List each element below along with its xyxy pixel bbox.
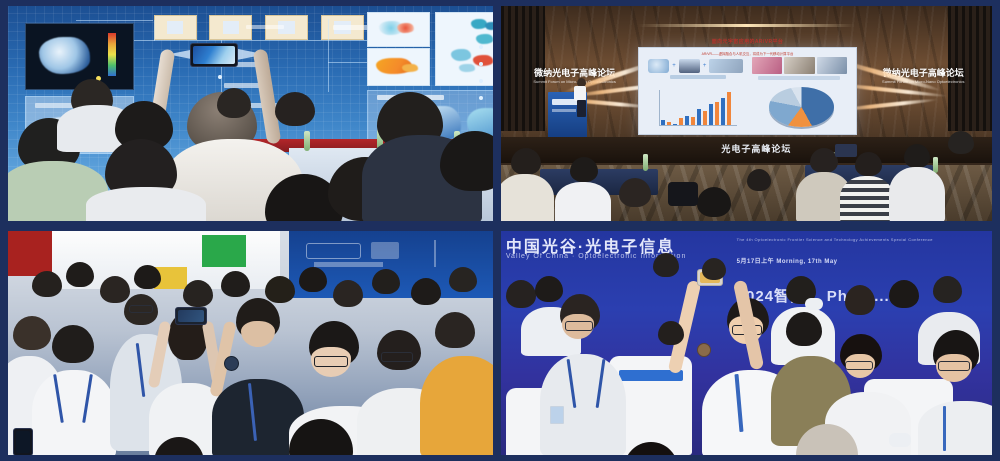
crowd-head (183, 280, 213, 307)
speaker-torso (574, 86, 586, 101)
crowd-head (435, 312, 475, 348)
stage-light-rail (638, 24, 854, 27)
audience-head (619, 178, 651, 207)
smartphone (175, 307, 207, 325)
science-plot-1 (367, 12, 430, 46)
attendee-head (535, 276, 563, 302)
slide-bar-chart (661, 91, 731, 125)
attendee-head (845, 285, 875, 315)
flow-connector-h1 (76, 20, 154, 21)
audience-head (855, 152, 882, 176)
slide-chart-caption (670, 75, 726, 79)
audience-head (511, 148, 541, 175)
attendee-head (786, 312, 822, 346)
slide-pie-chart (769, 87, 834, 127)
crowd-head (333, 280, 363, 307)
slide-image-strip (752, 57, 847, 73)
glasses-icon (314, 356, 348, 367)
glasses-icon (845, 361, 873, 370)
crowd-head-foreground (52, 325, 94, 363)
water-bottle (933, 157, 938, 173)
summit-forum-stage-photo: 微纳光电子高峰论坛 Summit Forum on Micro-Nano Opt… (501, 6, 992, 221)
collage-cell-top-right: 微纳光电子高峰论坛 Summit Forum on Micro-Nano Opt… (497, 0, 1000, 226)
slide-chart-yaxis (659, 90, 660, 126)
projection-screen: 面向元宇宙应用的AR/VR平台 AR/VR——虚拟融合与人机交互，将成为下一代移… (638, 47, 856, 135)
face-mask (889, 433, 911, 447)
flow-node-2 (218, 75, 222, 79)
slide-pie-caption (758, 76, 840, 80)
name-badge (550, 406, 564, 424)
crowd-head (265, 276, 295, 303)
flow-connector-v3 (328, 19, 329, 92)
crowd-head (449, 267, 477, 292)
red-banner (8, 231, 52, 276)
collage-cell-bottom-right: 中国光谷·光电子信息 Valley Of China · Optoelectro… (497, 226, 1000, 461)
laptop (835, 144, 857, 157)
attendee-body (540, 354, 626, 455)
audience-head (217, 88, 251, 118)
attendee-head (658, 321, 684, 345)
slide-title: 面向元宇宙应用的AR/VR平台 (639, 38, 855, 45)
glasses-icon (938, 361, 970, 371)
science-plot-3 (435, 12, 493, 86)
lanyard (943, 406, 946, 451)
glasses-icon (129, 305, 153, 313)
collage-cell-bottom-left (0, 226, 497, 461)
smartphone (13, 428, 33, 455)
crowd-head (13, 316, 51, 350)
attendee-body (918, 401, 992, 455)
slide-chart-axis (659, 125, 737, 126)
audience-body (889, 167, 945, 221)
audience-body (86, 187, 206, 221)
bracelet (697, 343, 711, 357)
audience-head (747, 169, 771, 191)
audience-head (904, 144, 930, 168)
crowd-head (32, 271, 62, 297)
audience-body-striped (840, 176, 894, 221)
stage-banner-left-subtitle: Summit Forum on Micro-Nano Optoelectroni… (521, 79, 629, 84)
flow-text-4 (246, 25, 285, 29)
attendee-head (889, 280, 919, 308)
crowd-head (372, 269, 400, 294)
glasses-icon (565, 321, 593, 331)
crowd-body-orange (420, 356, 493, 455)
green-shirt-attendee (202, 235, 246, 266)
thermal-image-panel (25, 23, 134, 90)
wristwatch (224, 356, 239, 371)
crowd-head (377, 330, 421, 370)
audience-head (275, 92, 315, 126)
flow-box-1 (154, 15, 197, 41)
led-dashboard-audience-photo (8, 6, 493, 221)
attendee-head (506, 280, 536, 308)
slide-subtitle: AR/VR——虚拟融合与人机交互，将成为下一代移动计算平台 (652, 51, 842, 56)
backpack (668, 182, 698, 206)
crowd-body (32, 370, 116, 455)
audience-body (555, 182, 611, 221)
crowd-head (221, 271, 250, 297)
audience-body (501, 174, 554, 221)
science-plot-2 (367, 48, 430, 87)
slide-icon-row: + + (648, 59, 743, 73)
attendee-head (702, 258, 726, 280)
water-bottle (643, 154, 648, 171)
audience-head (948, 131, 974, 154)
blue-backdrop-conference-photo: 中国光谷·光电子信息 Valley Of China · Optoelectro… (501, 231, 992, 455)
photo-collage: 微纳光电子高峰论坛 Summit Forum on Micro-Nano Opt… (0, 0, 1000, 461)
crowd-head (66, 262, 94, 287)
exhibition-crowd-photo (8, 231, 493, 455)
backdrop-conference-name: The 4th Optoelectronic Frontier Science … (737, 237, 933, 242)
collage-cell-top-left (0, 0, 497, 226)
glasses-icon (381, 352, 413, 362)
crowd-head (100, 276, 130, 303)
backdrop-date: 5月17日上午 Morning, 17th May (737, 256, 838, 265)
crowd-head (411, 278, 441, 305)
flow-connector-v1 (154, 20, 155, 42)
thermal-colorbar (108, 33, 115, 76)
audience-head (570, 157, 598, 182)
speaker-legs (577, 100, 586, 117)
flow-connector-h2 (134, 40, 367, 41)
attendee-head (933, 276, 962, 303)
crowd-head (299, 267, 327, 292)
smartphone (190, 43, 238, 67)
crowd-face (241, 321, 275, 347)
crowd-head (134, 265, 161, 289)
thermal-blob (39, 37, 90, 74)
face-mask (805, 298, 823, 310)
attendee-head (653, 253, 679, 277)
